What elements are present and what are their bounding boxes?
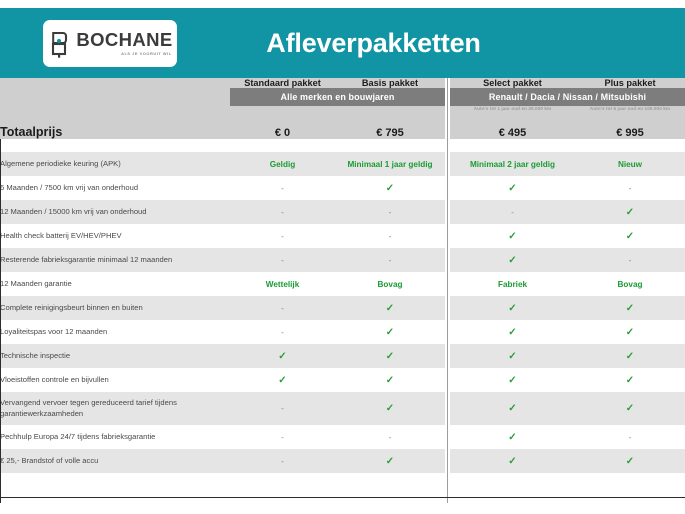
group-divider: [445, 224, 450, 248]
group-divider: [445, 320, 450, 344]
cell-select: ✓: [450, 449, 575, 473]
cell-basis: Bovag: [335, 272, 445, 296]
cell-plus: ✓: [575, 344, 685, 368]
group-divider: [445, 152, 450, 176]
cell-basis: -: [335, 425, 445, 449]
cell-basis: Minimaal 1 jaar geldig: [335, 152, 445, 176]
feature-label: Health check batterij EV/HEV/PHEV: [0, 224, 230, 248]
cell-standaard: -: [230, 224, 335, 248]
cell-basis: -: [335, 248, 445, 272]
group-divider: [445, 200, 450, 224]
table-row: 6 Maanden / 7500 km vrij van onderhoud -…: [0, 176, 685, 200]
table-row: 12 Maanden / 15000 km vrij van onderhoud…: [0, 200, 685, 224]
cell-standaard: Geldig: [230, 152, 335, 176]
column-header-basis: Basis pakket: [335, 78, 445, 88]
group-divider: [445, 78, 450, 88]
cell-standaard: -: [230, 248, 335, 272]
group-divider: [445, 392, 450, 425]
cell-standaard: ✓: [230, 368, 335, 392]
logo: BOCHANE ALS JE VOORUIT WIL: [43, 20, 177, 67]
cell-standaard: -: [230, 425, 335, 449]
table-row: Resterende fabrieksgarantie minimaal 12 …: [0, 248, 685, 272]
cell-select: ✓: [450, 368, 575, 392]
cell-select: ✓: [450, 392, 575, 425]
table-row: Loyaliteitspas voor 12 maanden - ✓ ✓ ✓: [0, 320, 685, 344]
cell-select: Minimaal 2 jaar geldig: [450, 152, 575, 176]
subnote-plus: Auto's tot 5 jaar oud en 100.000 km: [575, 106, 685, 111]
price-basis: € 795: [335, 125, 445, 139]
header-spacer: [0, 111, 685, 125]
cell-plus: -: [575, 248, 685, 272]
table-row: Complete reinigingsbeurt binnen en buite…: [0, 296, 685, 320]
table-footer-row: [0, 473, 685, 503]
column-header-standaard: Standaard pakket: [230, 78, 335, 88]
cell-plus: ✓: [575, 392, 685, 425]
feature-label: Resterende fabrieksgarantie minimaal 12 …: [0, 248, 230, 272]
group-pill-left-wrap: Alle merken en bouwjaren: [230, 88, 445, 106]
group-divider: [445, 248, 450, 272]
header-band: Afleverpakketten BOCHANE ALS JE VOORUIT …: [0, 8, 685, 78]
feature-label: 6 Maanden / 7500 km vrij van onderhoud: [0, 176, 230, 200]
feature-label: Vloeistoffen controle en bijvullen: [0, 368, 230, 392]
table-row: € 25,- Brandstof of volle accu - ✓ ✓ ✓: [0, 449, 685, 473]
group-divider: [445, 176, 450, 200]
cell-standaard: -: [230, 200, 335, 224]
cell-standaard: -: [230, 296, 335, 320]
table-row: Technische inspectie ✓ ✓ ✓ ✓: [0, 344, 685, 368]
cell-select: ✓: [450, 344, 575, 368]
cell-standaard: Wettelijk: [230, 272, 335, 296]
cell-select: ✓: [450, 425, 575, 449]
cell-standaard: -: [230, 176, 335, 200]
pill-blank: [0, 88, 230, 106]
cell-basis: -: [335, 200, 445, 224]
cell-plus: Bovag: [575, 272, 685, 296]
column-header-plus: Plus pakket: [575, 78, 685, 88]
cell-select: Fabriek: [450, 272, 575, 296]
group-pill-row: Alle merken en bouwjaren Renault / Dacia…: [0, 88, 685, 106]
cell-standaard: -: [230, 320, 335, 344]
cell-plus: -: [575, 425, 685, 449]
column-header-select: Select pakket: [450, 78, 575, 88]
feature-label: Pechhulp Europa 24/7 tijdens fabrieksgar…: [0, 425, 230, 449]
table-row: Vervangend vervoer tegen gereduceerd tar…: [0, 392, 685, 425]
cell-basis: ✓: [335, 296, 445, 320]
table-row: 12 Maanden garantie Wettelijk Bovag Fabr…: [0, 272, 685, 296]
header-blank: [0, 78, 230, 88]
cell-basis: ✓: [335, 368, 445, 392]
cell-select: ✓: [450, 320, 575, 344]
group-pill-left: Alle merken en bouwjaren: [230, 88, 445, 106]
cell-basis: ✓: [335, 176, 445, 200]
cell-plus: -: [575, 176, 685, 200]
package-name-row: Standaard pakket Basis pakket Select pak…: [0, 78, 685, 88]
cell-plus: ✓: [575, 224, 685, 248]
group-divider: [445, 425, 450, 449]
cell-standaard: -: [230, 392, 335, 425]
package-comparison-table: Standaard pakket Basis pakket Select pak…: [0, 78, 685, 503]
feature-label: Complete reinigingsbeurt binnen en buite…: [0, 296, 230, 320]
price-plus: € 995: [575, 125, 685, 139]
cell-standaard: ✓: [230, 344, 335, 368]
cell-select: -: [450, 200, 575, 224]
feature-label: Algemene periodieke keuring (APK): [0, 152, 230, 176]
cell-select: ✓: [450, 176, 575, 200]
group-divider: [445, 139, 450, 152]
total-price-row: Totaalprijs € 0 € 795 € 495 € 995: [0, 125, 685, 139]
cell-plus: Nieuw: [575, 152, 685, 176]
cell-select: ✓: [450, 296, 575, 320]
cell-standaard: -: [230, 449, 335, 473]
cell-basis: ✓: [335, 449, 445, 473]
cell-basis: ✓: [335, 344, 445, 368]
price-select: € 495: [450, 125, 575, 139]
logo-tagline: ALS JE VOORUIT WIL: [121, 52, 172, 56]
group-divider: [445, 449, 450, 473]
group-divider: [445, 88, 450, 106]
cell-plus: ✓: [575, 449, 685, 473]
header-bottom-gap: [0, 139, 685, 152]
cell-basis: ✓: [335, 320, 445, 344]
cell-plus: ✓: [575, 296, 685, 320]
group-divider: [445, 125, 450, 139]
bochane-mark-icon: [49, 29, 71, 59]
group-divider: [445, 111, 450, 125]
table-row: Vloeistoffen controle en bijvullen ✓ ✓ ✓…: [0, 368, 685, 392]
feature-label: Vervangend vervoer tegen gereduceerd tar…: [0, 392, 230, 425]
total-price-label: Totaalprijs: [0, 125, 230, 139]
table-row: Health check batterij EV/HEV/PHEV - - ✓ …: [0, 224, 685, 248]
group-pill-right: Renault / Dacia / Nissan / Mitsubishi: [450, 88, 685, 106]
table-row: Algemene periodieke keuring (APK) Geldig…: [0, 152, 685, 176]
feature-label: 12 Maanden garantie: [0, 272, 230, 296]
group-divider: [445, 344, 450, 368]
poster-page: Afleverpakketten BOCHANE ALS JE VOORUIT …: [0, 0, 685, 514]
feature-label: Loyaliteitspas voor 12 maanden: [0, 320, 230, 344]
table-row: Pechhulp Europa 24/7 tijdens fabrieksgar…: [0, 425, 685, 449]
cell-select: ✓: [450, 224, 575, 248]
cell-plus: ✓: [575, 368, 685, 392]
group-divider: [445, 368, 450, 392]
cell-select: ✓: [450, 248, 575, 272]
price-standaard: € 0: [230, 125, 335, 139]
group-divider: [445, 272, 450, 296]
group-pill-right-wrap: Renault / Dacia / Nissan / Mitsubishi: [450, 88, 685, 106]
feature-label: € 25,- Brandstof of volle accu: [0, 449, 230, 473]
group-divider: [445, 296, 450, 320]
feature-label: Technische inspectie: [0, 344, 230, 368]
cell-plus: ✓: [575, 320, 685, 344]
logo-wordmark: BOCHANE: [76, 31, 172, 50]
table-bottom-rule: [0, 497, 685, 498]
feature-label: 12 Maanden / 15000 km vrij van onderhoud: [0, 200, 230, 224]
cell-basis: ✓: [335, 392, 445, 425]
cell-plus: ✓: [575, 200, 685, 224]
cell-basis: -: [335, 224, 445, 248]
